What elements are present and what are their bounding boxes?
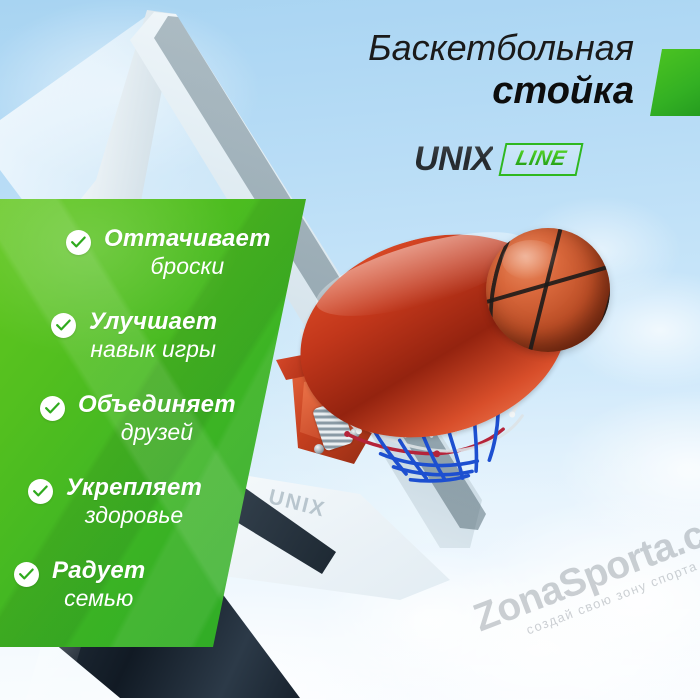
- page-title: Баскетбольная стойка: [368, 28, 634, 112]
- feature-subtitle: друзей: [78, 421, 236, 445]
- poster-canvas: UNIX: [0, 0, 700, 700]
- feature-text: Радует семью: [52, 559, 145, 611]
- ball-highlight: [502, 240, 560, 280]
- feature-subtitle: броски: [104, 255, 271, 279]
- feature-subtitle: семью: [52, 587, 145, 611]
- check-circle-icon: [14, 562, 39, 587]
- feature-title: Радует: [52, 559, 145, 584]
- check-circle-icon: [66, 230, 91, 255]
- feature-subtitle: навык игры: [89, 338, 217, 362]
- feature-subtitle: здоровье: [66, 504, 202, 528]
- brand-badge-label: LINE: [514, 147, 569, 171]
- brand-badge: LINE: [499, 143, 584, 176]
- feature-item-4: Укрепляет здоровье: [28, 476, 202, 528]
- feature-title: Улучшает: [89, 310, 217, 335]
- feature-title: Укрепляет: [66, 476, 202, 501]
- feature-text: Улучшает навык игры: [89, 310, 217, 362]
- title-line-2: стойка: [368, 70, 634, 113]
- feature-text: Укрепляет здоровье: [66, 476, 202, 528]
- title-line-1: Баскетбольная: [368, 28, 634, 68]
- feature-title: Объединяет: [78, 393, 236, 418]
- feature-item-3: Объединяет друзей: [40, 393, 236, 445]
- check-circle-icon: [51, 313, 76, 338]
- check-circle-icon: [28, 479, 53, 504]
- feature-item-1: Оттачивает броски: [66, 227, 271, 279]
- basketball: [486, 228, 610, 352]
- brand-logo: UNIX LINE: [414, 140, 580, 179]
- feature-text: Объединяет друзей: [78, 393, 236, 445]
- check-circle-icon: [40, 396, 65, 421]
- feature-item-5: Радует семью: [14, 559, 145, 611]
- feature-title: Оттачивает: [104, 227, 271, 252]
- brand-name: UNIX: [414, 140, 493, 179]
- feature-item-2: Улучшает навык игры: [51, 310, 217, 362]
- feature-text: Оттачивает броски: [104, 227, 271, 279]
